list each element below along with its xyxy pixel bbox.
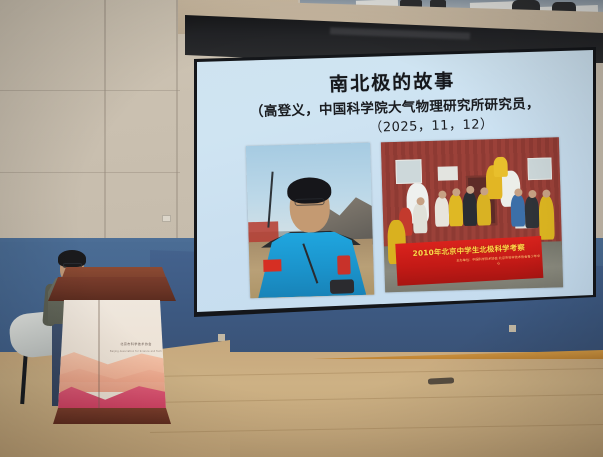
photo-window — [395, 159, 422, 184]
photo-person — [448, 194, 463, 226]
wall-switch-plate[interactable] — [162, 215, 171, 222]
photo-sign — [438, 166, 458, 181]
wall-seam — [0, 90, 180, 91]
photo-camera — [330, 279, 354, 294]
china-flag-patch-icon — [263, 259, 281, 272]
photo-person — [493, 157, 508, 177]
photo-person — [524, 196, 539, 228]
photo-person — [538, 195, 554, 239]
wall-seam — [176, 0, 178, 250]
projection-screen[interactable]: 南北极的故事 （高登义，中国科学院大气物理研究所研究员， （2025，11，12… — [197, 50, 593, 312]
photo-glasses — [294, 198, 324, 206]
podium-top — [48, 277, 176, 301]
group-photo-banner: 2010年北京中学生北极科学考察 主办单位：中国科学技术协会 北京市科学技术协会… — [395, 236, 543, 286]
photo-badge — [337, 255, 351, 274]
wall-outlet-plate[interactable] — [218, 334, 225, 341]
wall-seam — [0, 172, 180, 173]
photo-person — [413, 203, 428, 233]
photo-person — [462, 192, 477, 226]
wall-seam — [104, 0, 106, 250]
slide-group-photo: 2010年北京中学生北极科学考察 主办单位：中国科学技术协会 北京市科学技术协会… — [381, 137, 563, 292]
podium-corner-edge — [98, 300, 100, 410]
podium-body: 北京市科学技术协会 Beijing Association for Scienc… — [58, 300, 166, 410]
slide-content: 南北极的故事 （高登义，中国科学院大气物理研究所研究员， （2025，11，12… — [197, 50, 593, 312]
banner-sub-text: 主办单位：中国科学技术协会 北京市科学技术协会青少年中心 — [456, 254, 540, 268]
photo-person — [510, 194, 525, 226]
wall-outlet-plate[interactable] — [509, 325, 516, 332]
auditorium-scene: 南北极的故事 （高登义，中国科学院大气物理研究所研究员， （2025，11，12… — [0, 0, 603, 457]
slide-portrait-photo — [246, 143, 374, 299]
podium-base — [53, 408, 171, 424]
podium-logo-subtext: Beijing Association for Science and Tech… — [110, 350, 162, 353]
photo-person — [434, 196, 449, 226]
photo-person — [476, 193, 491, 225]
photo-window — [527, 157, 552, 180]
podium-logo-text: 北京市科学技术协会 — [110, 342, 162, 348]
